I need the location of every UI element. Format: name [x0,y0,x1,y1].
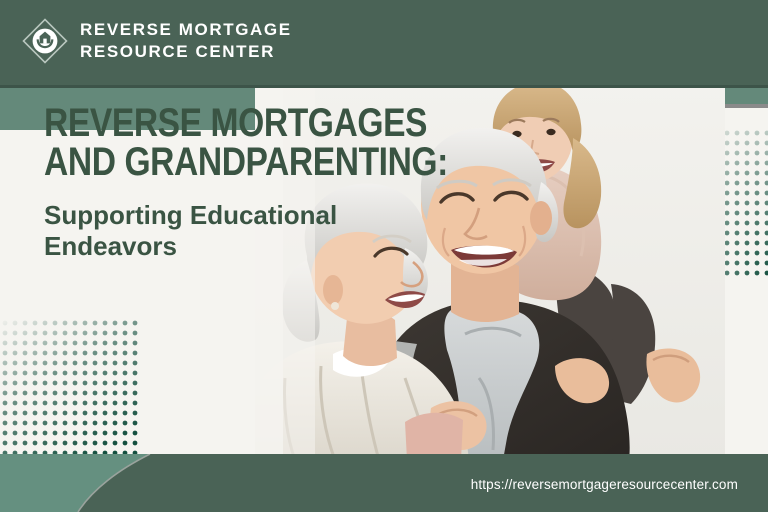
page-subtitle: Supporting Educational Endeavors [44,200,374,261]
site-url[interactable]: https://reversemortgageresourcecenter.co… [471,477,738,492]
blog-header-banner: REVERSE MORTGAGE RESOURCE CENTER [0,0,768,512]
halftone-dots-left [0,318,140,468]
brand-lockup[interactable]: REVERSE MORTGAGE RESOURCE CENTER [22,18,292,64]
brand-line-1: REVERSE MORTGAGE [80,19,292,41]
brand-name: REVERSE MORTGAGE RESOURCE CENTER [80,19,292,63]
headline-line-1: REVERSE MORTGAGES [44,101,427,145]
site-header-bar: REVERSE MORTGAGE RESOURCE CENTER [0,0,768,88]
footer-band: https://reversemortgageresourcecenter.co… [0,454,768,512]
headline-line-2: AND GRANDPARENTING: [44,143,439,182]
hero-copy: REVERSE MORTGAGES AND GRANDPARENTING: Su… [44,104,514,262]
page-title: REVERSE MORTGAGES AND GRANDPARENTING: [44,104,439,182]
brand-line-2: RESOURCE CENTER [80,41,292,63]
house-in-hands-diamond-icon [22,18,68,64]
